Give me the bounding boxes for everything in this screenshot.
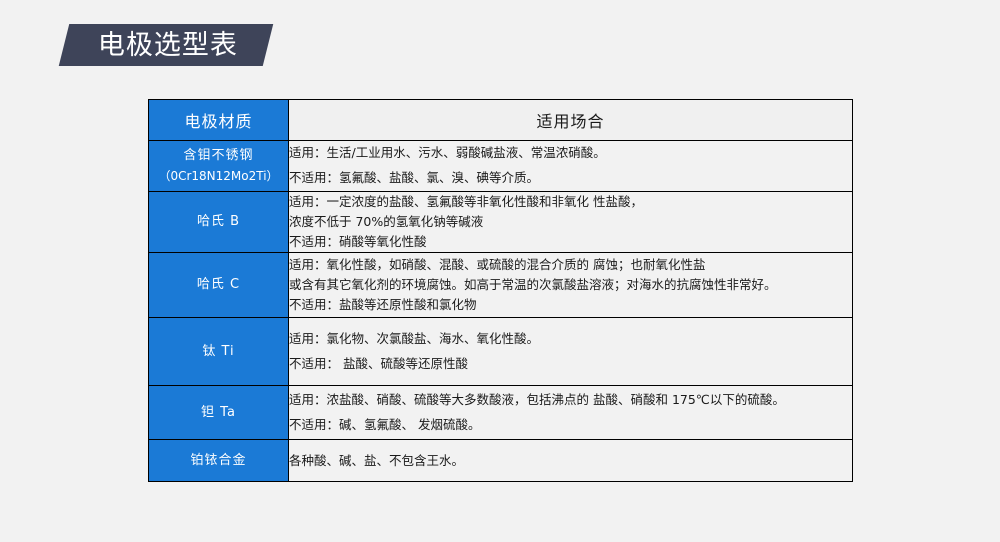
material-cell: 哈氏 C [149, 253, 289, 318]
table-row: 铂铱合金各种酸、碱、盐、不包含王水。 [149, 440, 853, 482]
usage-line: 不适用： 盐酸、硫酸等还原性酸 [289, 354, 852, 374]
page-title: 电极选型表 [98, 32, 238, 59]
usage-line: 适用：氯化物、次氯酸盐、海水、氧化性酸。 [289, 329, 852, 349]
usage-cell: 各种酸、碱、盐、不包含王水。 [289, 440, 853, 482]
table-row: 含钼不锈钢（0Cr18N12Mo2Ti）适用：生活/工业用水、污水、弱酸碱盐液、… [149, 141, 853, 192]
table-row: 哈氏 C适用：氧化性酸，如硝酸、混酸、或硫酸的混合介质的 腐蚀；也耐氧化性盐或含… [149, 253, 853, 318]
usage-line: 或含有其它氧化剂的环境腐蚀。如高于常温的次氯酸盐溶液；对海水的抗腐蚀性非常好。 [289, 275, 852, 295]
material-cell: 铂铱合金 [149, 440, 289, 482]
table-header: 电极材质 适用场合 [149, 100, 853, 141]
material-name: 铂铱合金 [149, 451, 288, 471]
material-cell: 钛 Ti [149, 318, 289, 386]
column-header-usage: 适用场合 [289, 100, 853, 141]
table-header-row: 电极材质 适用场合 [149, 100, 853, 141]
usage-cell: 适用：生活/工业用水、污水、弱酸碱盐液、常温浓硝酸。不适用：氢氟酸、盐酸、氯、溴… [289, 141, 853, 192]
usage-line: 适用：浓盐酸、硝酸、硫酸等大多数酸液，包括沸点的 盐酸、硝酸和 175℃以下的硫… [289, 390, 852, 410]
material-cell: 哈氏 B [149, 191, 289, 253]
material-cell: 钽 Ta [149, 386, 289, 440]
usage-line: 适用：一定浓度的盐酸、氢氟酸等非氧化性酸和非氧化 性盐酸， [289, 192, 852, 212]
usage-line: 适用：氧化性酸，如硝酸、混酸、或硫酸的混合介质的 腐蚀；也耐氧化性盐 [289, 255, 852, 275]
material-name: 含钼不锈钢 [149, 146, 288, 166]
column-header-material: 电极材质 [149, 100, 289, 141]
table-row: 钛 Ti适用：氯化物、次氯酸盐、海水、氧化性酸。不适用： 盐酸、硫酸等还原性酸 [149, 318, 853, 386]
material-name: 哈氏 B [149, 212, 288, 232]
usage-line: 浓度不低于 70%的氢氧化钠等碱液 [289, 212, 852, 232]
page-title-banner: 电极选型表 [59, 24, 273, 66]
usage-line: 不适用：盐酸等还原性酸和氯化物 [289, 295, 852, 315]
material-cell: 含钼不锈钢（0Cr18N12Mo2Ti） [149, 141, 289, 192]
electrode-selection-table-container: 电极材质 适用场合 含钼不锈钢（0Cr18N12Mo2Ti）适用：生活/工业用水… [148, 99, 852, 482]
material-code: （0Cr18N12Mo2Ti） [149, 167, 288, 186]
table-body: 含钼不锈钢（0Cr18N12Mo2Ti）适用：生活/工业用水、污水、弱酸碱盐液、… [149, 141, 853, 482]
table-row: 钽 Ta适用：浓盐酸、硝酸、硫酸等大多数酸液，包括沸点的 盐酸、硝酸和 175℃… [149, 386, 853, 440]
usage-line: 不适用：硝酸等氧化性酸 [289, 232, 852, 252]
usage-line: 不适用：碱、氢氟酸、 发烟硫酸。 [289, 415, 852, 435]
usage-cell: 适用：一定浓度的盐酸、氢氟酸等非氧化性酸和非氧化 性盐酸，浓度不低于 70%的氢… [289, 191, 853, 253]
material-name: 钽 Ta [149, 403, 288, 423]
usage-cell: 适用：浓盐酸、硝酸、硫酸等大多数酸液，包括沸点的 盐酸、硝酸和 175℃以下的硫… [289, 386, 853, 440]
electrode-selection-table: 电极材质 适用场合 含钼不锈钢（0Cr18N12Mo2Ti）适用：生活/工业用水… [148, 99, 853, 482]
usage-cell: 适用：氧化性酸，如硝酸、混酸、或硫酸的混合介质的 腐蚀；也耐氧化性盐或含有其它氧… [289, 253, 853, 318]
table-row: 哈氏 B适用：一定浓度的盐酸、氢氟酸等非氧化性酸和非氧化 性盐酸，浓度不低于 7… [149, 191, 853, 253]
material-name: 哈氏 C [149, 275, 288, 295]
usage-cell: 适用：氯化物、次氯酸盐、海水、氧化性酸。不适用： 盐酸、硫酸等还原性酸 [289, 318, 853, 386]
usage-line: 不适用：氢氟酸、盐酸、氯、溴、碘等介质。 [289, 168, 852, 188]
usage-line: 适用：生活/工业用水、污水、弱酸碱盐液、常温浓硝酸。 [289, 143, 852, 163]
material-name: 钛 Ti [149, 342, 288, 362]
usage-line: 各种酸、碱、盐、不包含王水。 [289, 451, 852, 471]
